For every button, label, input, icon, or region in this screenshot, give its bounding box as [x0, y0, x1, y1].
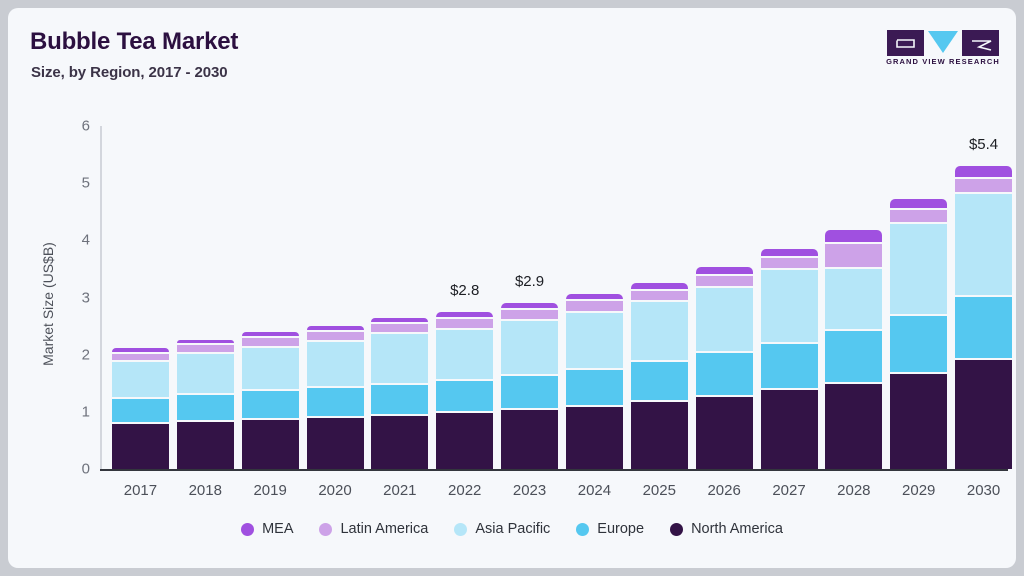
bar-segment-2019-europe[interactable] [242, 391, 299, 418]
y-axis-tick-6: 6 [30, 118, 90, 135]
legend-swatch-icon [454, 523, 467, 536]
bar-segment-2018-asia-pacific[interactable] [177, 354, 234, 393]
bar-2021[interactable] [371, 126, 428, 469]
bar-2026[interactable] [696, 126, 753, 469]
bar-segment-2026-europe[interactable] [696, 353, 753, 395]
bar-2017[interactable] [112, 126, 169, 469]
legend-label: Asia Pacific [475, 521, 550, 537]
legend-item-mea[interactable]: MEA [241, 521, 293, 537]
legend-swatch-icon [576, 523, 589, 536]
bar-segment-2029-mea[interactable] [890, 199, 947, 208]
bar-segment-2017-asia-pacific[interactable] [112, 362, 169, 397]
bar-segment-2028-latin-america[interactable] [825, 244, 882, 267]
chart-card: Bubble Tea Market Size, by Region, 2017 … [8, 8, 1016, 568]
bar-segment-2024-asia-pacific[interactable] [566, 313, 623, 368]
bar-segment-2025-asia-pacific[interactable] [631, 302, 688, 359]
bar-segment-2029-latin-america[interactable] [890, 210, 947, 222]
bar-segment-2021-latin-america[interactable] [371, 324, 428, 332]
bar-2024[interactable] [566, 126, 623, 469]
x-axis-tick-2019: 2019 [235, 482, 305, 499]
bar-segment-2024-north-america[interactable] [566, 407, 623, 469]
bar-segment-2022-europe[interactable] [436, 381, 493, 411]
bar-2025[interactable] [631, 126, 688, 469]
bar-segment-2029-europe[interactable] [890, 316, 947, 372]
x-axis-tick-2030: 2030 [949, 482, 1016, 499]
bar-segment-2019-latin-america[interactable] [242, 338, 299, 346]
x-axis-tick-2020: 2020 [300, 482, 370, 499]
legend-item-latin-america[interactable]: Latin America [319, 521, 428, 537]
legend: MEALatin AmericaAsia PacificEuropeNorth … [8, 521, 1016, 537]
bar-segment-2017-north-america[interactable] [112, 424, 169, 469]
y-axis-tick-0: 0 [30, 461, 90, 478]
bar-segment-2027-europe[interactable] [761, 344, 818, 388]
x-axis-tick-2018: 2018 [170, 482, 240, 499]
bar-segment-2025-europe[interactable] [631, 362, 688, 401]
bar-2027[interactable] [761, 126, 818, 469]
bar-2023[interactable] [501, 126, 558, 469]
bar-2028[interactable] [825, 126, 882, 469]
bar-segment-2017-mea[interactable] [112, 348, 169, 352]
y-axis-tick-2: 2 [30, 346, 90, 363]
bar-segment-2029-asia-pacific[interactable] [890, 224, 947, 314]
bar-segment-2026-mea[interactable] [696, 267, 753, 274]
x-axis-tick-2024: 2024 [559, 482, 629, 499]
bar-segment-2027-asia-pacific[interactable] [761, 270, 818, 342]
bar-segment-2030-asia-pacific[interactable] [955, 194, 1012, 295]
data-label-2030: $5.4 [944, 136, 1016, 153]
bar-segment-2024-mea[interactable] [566, 294, 623, 299]
data-label-2023: $2.9 [490, 273, 570, 290]
bar-segment-2025-north-america[interactable] [631, 402, 688, 469]
bar-segment-2020-north-america[interactable] [307, 418, 364, 469]
bar-segment-2027-mea[interactable] [761, 249, 818, 256]
x-axis-tick-2029: 2029 [884, 482, 954, 499]
bar-segment-2018-north-america[interactable] [177, 422, 234, 469]
bar-2030[interactable] [955, 126, 1012, 469]
bar-segment-2028-north-america[interactable] [825, 384, 882, 469]
logo-mark-icon [887, 30, 999, 56]
x-axis-tick-2022: 2022 [430, 482, 500, 499]
bar-segment-2028-asia-pacific[interactable] [825, 269, 882, 329]
bar-2029[interactable] [890, 126, 947, 469]
bar-segment-2030-mea[interactable] [955, 166, 1012, 178]
bar-segment-2021-north-america[interactable] [371, 416, 428, 469]
x-axis-line [100, 469, 1008, 471]
bar-2018[interactable] [177, 126, 234, 469]
bar-segment-2026-north-america[interactable] [696, 397, 753, 469]
bar-segment-2017-latin-america[interactable] [112, 354, 169, 361]
y-axis-tick-4: 4 [30, 232, 90, 249]
bar-segment-2023-europe[interactable] [501, 376, 558, 409]
brand-logo: GRAND VIEW RESEARCH [883, 30, 1003, 70]
bar-segment-2024-latin-america[interactable] [566, 301, 623, 310]
bar-segment-2028-europe[interactable] [825, 331, 882, 382]
bar-segment-2023-latin-america[interactable] [501, 310, 558, 319]
bar-segment-2030-north-america[interactable] [955, 360, 1012, 469]
bar-segment-2026-latin-america[interactable] [696, 276, 753, 286]
bar-segment-2023-asia-pacific[interactable] [501, 321, 558, 374]
x-axis-tick-2028: 2028 [819, 482, 889, 499]
y-axis-tick-3: 3 [30, 289, 90, 306]
bar-segment-2028-mea[interactable] [825, 230, 882, 242]
x-axis-tick-2025: 2025 [624, 482, 694, 499]
bar-2019[interactable] [242, 126, 299, 469]
y-axis: Market Size (US$B) 0123456 [20, 8, 90, 568]
bar-segment-2023-mea[interactable] [501, 303, 558, 308]
y-axis-tick-5: 5 [30, 175, 90, 192]
legend-swatch-icon [670, 523, 683, 536]
bar-segment-2021-europe[interactable] [371, 385, 428, 414]
legend-label: MEA [262, 521, 293, 537]
bar-segment-2018-latin-america[interactable] [177, 345, 234, 352]
bar-segment-2022-latin-america[interactable] [436, 319, 493, 328]
legend-item-asia-pacific[interactable]: Asia Pacific [454, 521, 550, 537]
x-axis-tick-2021: 2021 [365, 482, 435, 499]
legend-item-europe[interactable]: Europe [576, 521, 644, 537]
bar-2020[interactable] [307, 126, 364, 469]
bar-segment-2030-latin-america[interactable] [955, 179, 1012, 192]
bar-segment-2019-north-america[interactable] [242, 420, 299, 469]
legend-label: Latin America [340, 521, 428, 537]
x-axis-tick-2026: 2026 [689, 482, 759, 499]
bar-segment-2022-asia-pacific[interactable] [436, 330, 493, 379]
bar-segment-2025-latin-america[interactable] [631, 291, 688, 300]
bar-segment-2019-asia-pacific[interactable] [242, 348, 299, 389]
bar-segment-2023-north-america[interactable] [501, 410, 558, 469]
legend-swatch-icon [241, 523, 254, 536]
plot-area [100, 126, 1008, 469]
x-axis-tick-2027: 2027 [754, 482, 824, 499]
logo-text: GRAND VIEW RESEARCH [883, 57, 1003, 66]
bar-segment-2026-asia-pacific[interactable] [696, 288, 753, 352]
bar-segment-2020-asia-pacific[interactable] [307, 342, 364, 386]
bar-segment-2021-mea[interactable] [371, 318, 428, 322]
bar-segment-2029-north-america[interactable] [890, 374, 947, 469]
legend-swatch-icon [319, 523, 332, 536]
legend-label: North America [691, 521, 783, 537]
bar-segment-2022-north-america[interactable] [436, 413, 493, 469]
bar-segment-2024-europe[interactable] [566, 370, 623, 405]
bar-segment-2021-asia-pacific[interactable] [371, 334, 428, 382]
bar-segment-2019-mea[interactable] [242, 332, 299, 336]
legend-label: Europe [597, 521, 644, 537]
bar-segment-2027-north-america[interactable] [761, 390, 818, 469]
bar-segment-2018-mea[interactable] [177, 340, 234, 344]
x-axis-tick-2023: 2023 [495, 482, 565, 499]
bar-segment-2027-latin-america[interactable] [761, 258, 818, 269]
bar-segment-2020-mea[interactable] [307, 326, 364, 330]
bar-segment-2030-europe[interactable] [955, 297, 1012, 358]
bar-segment-2020-latin-america[interactable] [307, 332, 364, 340]
y-axis-tick-1: 1 [30, 403, 90, 420]
legend-item-north-america[interactable]: North America [670, 521, 783, 537]
x-axis-tick-2017: 2017 [105, 482, 175, 499]
bar-segment-2017-europe[interactable] [112, 399, 169, 422]
bar-segment-2020-europe[interactable] [307, 388, 364, 416]
bar-segment-2022-mea[interactable] [436, 312, 493, 317]
bar-segment-2018-europe[interactable] [177, 395, 234, 420]
bar-segment-2025-mea[interactable] [631, 283, 688, 289]
